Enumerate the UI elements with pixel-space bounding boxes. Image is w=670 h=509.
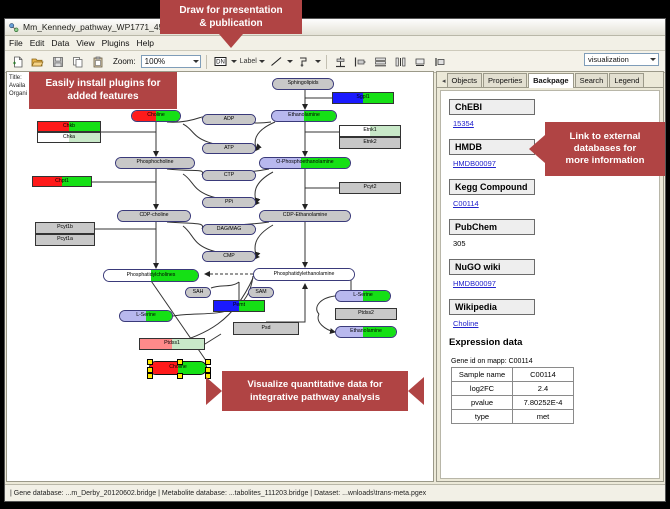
node-label: Pemt xyxy=(233,303,245,308)
metabolite-node-sphingolipids[interactable]: Sphingolipids xyxy=(272,78,334,90)
metabolite-node-sam-1[interactable]: SAM xyxy=(248,287,274,298)
node-label: Chkb xyxy=(63,124,75,129)
expr-val-log2fc: 2.4 xyxy=(513,382,574,396)
pathvisio-window: Mm_Kennedy_pathway_WP1771_45176.gpml Fil… xyxy=(4,18,666,502)
tab-legend[interactable]: Legend xyxy=(609,73,644,87)
distribute-icon[interactable] xyxy=(352,53,369,70)
node-label: Phosphatidylcholines xyxy=(127,273,176,278)
metabolite-node-phosphatidylcholines[interactable]: Phosphatidylcholines xyxy=(103,269,199,282)
node-label: Psd xyxy=(262,326,271,331)
db-header-nugo-wiki: NuGO wiki xyxy=(449,259,535,275)
pathvisio-app-icon xyxy=(8,22,19,33)
db-header-kegg-compound: Kegg Compound xyxy=(449,179,535,195)
copy-icon[interactable] xyxy=(69,53,86,70)
status-bar: | Gene database: ...m_Derby_20120602.bri… xyxy=(5,484,665,501)
new-file-icon[interactable] xyxy=(9,53,26,70)
gene-node-pcyt1b[interactable]: Pcyt1b xyxy=(35,222,95,234)
menu-item-plugins[interactable]: Plugins xyxy=(102,38,130,48)
gene-node-psd[interactable]: Psd xyxy=(233,322,299,335)
chevron-down-icon xyxy=(193,60,199,63)
visualization-select[interactable]: visualization xyxy=(584,53,659,66)
node-label: Phosphocholine xyxy=(137,160,174,165)
line-tool-group[interactable] xyxy=(268,53,293,70)
node-label: CMP xyxy=(223,254,235,259)
stack-icon[interactable] xyxy=(372,53,389,70)
side-panel-tabs: ◂ Objects Properties Backpage Search Leg… xyxy=(437,72,663,88)
node-label: CDP-choline xyxy=(139,213,168,218)
menu-item-data[interactable]: Data xyxy=(51,38,69,48)
metabolite-node-ppi[interactable]: PPi xyxy=(202,197,256,208)
gene-node-chpt1[interactable]: Chpt1 xyxy=(32,176,92,187)
chevron-down-icon[interactable] xyxy=(287,60,293,63)
order-icon[interactable] xyxy=(432,53,449,70)
metabolite-node-phosphocholine[interactable]: Phosphocholine xyxy=(115,157,195,169)
callout-plugins-line2: added features xyxy=(67,90,138,103)
metabolite-node-atp[interactable]: ATP xyxy=(202,143,256,154)
metabolite-node-ethanolamine-right[interactable]: Ethanolamine xyxy=(335,326,397,338)
tab-search[interactable]: Search xyxy=(575,73,609,87)
callout-draw-arrow xyxy=(219,34,243,48)
node-label: Etnk1 xyxy=(363,128,376,133)
node-label: Phosphatidylethanolamine xyxy=(274,272,335,277)
selection-handle[interactable] xyxy=(205,359,211,365)
metabolite-node-ethanolamine-top[interactable]: Ethanolamine xyxy=(271,110,337,122)
expr-val-sample-name: C00114 xyxy=(513,368,574,382)
node-label: Pcyt1b xyxy=(57,225,73,230)
node-label: ATP xyxy=(224,146,234,151)
node-label: Chpt1 xyxy=(55,179,69,184)
node-label: Pcyt2 xyxy=(364,185,377,190)
menu-item-help[interactable]: Help xyxy=(137,38,154,48)
gene-node-pcyt2[interactable]: Pcyt2 xyxy=(339,182,401,194)
group-icon[interactable] xyxy=(412,53,429,70)
node-label: Sphingolipids xyxy=(288,81,319,86)
db-link-nugo-wiki[interactable]: HMDB00097 xyxy=(453,279,651,288)
chevron-down-icon[interactable] xyxy=(259,60,265,63)
node-label: Ptdss2 xyxy=(358,311,374,316)
zoom-combobox[interactable]: 100% xyxy=(141,55,201,68)
selection-handle[interactable] xyxy=(147,373,153,379)
svg-text:DN: DN xyxy=(216,60,225,66)
node-label: PPi xyxy=(225,200,233,205)
status-text: | Gene database: ...m_Derby_20120602.bri… xyxy=(5,490,426,497)
metabolite-node-phosphatidylethanolamine[interactable]: Phosphatidylethanolamine xyxy=(253,268,355,281)
db-header-pubchem: PubChem xyxy=(449,219,535,235)
table-row: pvalue 7.80252E-4 xyxy=(452,396,574,410)
selection-handle[interactable] xyxy=(177,373,183,379)
node-label: L-Serine xyxy=(353,293,373,298)
node-label: CDP-Ethanolamine xyxy=(283,213,327,218)
db-header-hmdb: HMDB xyxy=(449,139,535,155)
save-icon[interactable] xyxy=(49,53,66,70)
table-row: log2FC 2.4 xyxy=(452,382,574,396)
gene-id-on-mapp: Gene id on mapp: C00114 xyxy=(451,358,651,365)
node-label: O-Phosphoethanolamine xyxy=(276,160,333,165)
zoom-label: Zoom: xyxy=(113,57,136,66)
metabolite-node-choline-selected[interactable]: Choline xyxy=(149,361,207,375)
label-tool-group[interactable]: Label xyxy=(240,58,265,65)
metabolite-node-o-phosphoethanolamine[interactable]: O-Phosphoethanolamine xyxy=(259,157,351,169)
expr-key-pvalue: pvalue xyxy=(452,396,513,410)
callout-visualize-line2: integrative pathway analysis xyxy=(250,391,380,404)
selection-handle[interactable] xyxy=(177,359,183,365)
line-icon[interactable] xyxy=(268,53,285,70)
gene-node-etnk2[interactable]: Etnk2 xyxy=(339,137,401,149)
gene-node-pcyt1a[interactable]: Pcyt1a xyxy=(35,234,95,246)
expr-val-pvalue: 7.80252E-4 xyxy=(513,396,574,410)
zoom-value: 100% xyxy=(145,57,165,66)
node-label: Chka xyxy=(63,135,75,140)
callout-visualize: Visualize quantitative data for integrat… xyxy=(222,371,408,411)
callout-visualize-arrow-right xyxy=(408,377,424,405)
open-folder-icon[interactable] xyxy=(29,53,46,70)
screenshot-root: Mm_Kennedy_pathway_WP1771_45176.gpml Fil… xyxy=(0,0,670,509)
tab-properties[interactable]: Properties xyxy=(483,73,527,87)
callout-external-line1: Link to external xyxy=(570,131,641,143)
metabolite-node-ctp[interactable]: CTP xyxy=(202,170,256,181)
callout-visualize-arrow-left xyxy=(206,377,222,405)
callout-external-line2: databases for xyxy=(574,143,636,155)
gene-node-chka[interactable]: Chka xyxy=(37,132,101,143)
callout-plugins: Easily install plugins for added feature… xyxy=(29,71,177,109)
node-label: Choline xyxy=(147,113,165,118)
selection-handle[interactable] xyxy=(147,359,153,365)
db-link-wikipedia[interactable]: Choline xyxy=(453,319,651,328)
spacing-icon[interactable] xyxy=(392,53,409,70)
node-label: Pcyt1a xyxy=(57,237,73,242)
metabolite-node-dagmag[interactable]: DAG/MAG xyxy=(202,224,256,235)
node-label: Ethanolamine xyxy=(288,113,320,118)
menu-bar: File Edit Data View Plugins Help xyxy=(5,36,665,51)
menu-item-view[interactable]: View xyxy=(76,38,94,48)
node-label: DAG/MAG xyxy=(217,227,242,232)
expr-key-type: type xyxy=(452,410,513,424)
expr-key-log2fc: log2FC xyxy=(452,382,513,396)
db-link-kegg-compound[interactable]: C00114 xyxy=(453,199,651,208)
metabolite-node-cmp[interactable]: CMP xyxy=(202,251,256,262)
toolbar-separator xyxy=(326,55,327,69)
node-label: L-Serine xyxy=(136,313,156,318)
node-label: Ethanolamine xyxy=(350,329,382,334)
menu-item-edit[interactable]: Edit xyxy=(30,38,45,48)
node-label: Etnk2 xyxy=(363,140,376,145)
chevron-down-icon[interactable] xyxy=(315,60,321,63)
gene-node-ptdss1[interactable]: Ptdss1 xyxy=(139,338,205,350)
callout-external-links: Link to external databases for more info… xyxy=(545,122,665,176)
callout-draw: Draw for presentation & publication xyxy=(160,0,302,34)
gene-node-etnk1[interactable]: Etnk1 xyxy=(339,125,401,137)
gene-node-ptdss2[interactable]: Ptdss2 xyxy=(335,308,397,320)
label-tool-label: Label xyxy=(240,58,257,65)
node-label: ADP xyxy=(224,117,235,122)
tab-objects[interactable]: Objects xyxy=(447,73,482,87)
metabolite-node-sah-1[interactable]: SAH xyxy=(185,287,211,298)
table-row: type met xyxy=(452,410,574,424)
gene-node-pemt[interactable]: Pemt xyxy=(213,300,265,312)
chevron-down-icon[interactable] xyxy=(231,60,237,63)
anchor-line-icon[interactable] xyxy=(296,53,313,70)
data-node-icon[interactable]: DN xyxy=(212,53,229,70)
gene-node-sgpl1[interactable]: Sgpl1 xyxy=(332,92,394,104)
node-label: Choline xyxy=(169,365,187,370)
metabolite-node-cdp-ethanolamine[interactable]: CDP-Ethanolamine xyxy=(259,210,351,222)
paste-icon[interactable] xyxy=(89,53,106,70)
node-label: Ptdss1 xyxy=(164,341,180,346)
gene-node-chkb[interactable]: Chkb xyxy=(37,121,101,132)
align-icon[interactable] xyxy=(332,53,349,70)
node-label: Sgpl1 xyxy=(356,95,369,100)
metabolite-node-cdp-choline[interactable]: CDP-choline xyxy=(117,210,191,222)
pathway-canvas[interactable]: Title: Availa Organi xyxy=(6,71,434,482)
datanode-tool-group[interactable]: DN xyxy=(212,53,237,70)
chevron-down-icon xyxy=(650,58,656,61)
db-header-chebi: ChEBI xyxy=(449,99,535,115)
window-titlebar: Mm_Kennedy_pathway_WP1771_45176.gpml xyxy=(5,19,665,36)
node-label: SAM xyxy=(255,290,266,295)
metabolite-node-adp[interactable]: ADP xyxy=(202,114,256,125)
expr-key-sample-name: Sample name xyxy=(452,368,513,382)
callout-draw-line1: Draw for presentation xyxy=(179,4,282,17)
expression-table: Sample name C00114 log2FC 2.4 pvalue 7.8… xyxy=(451,367,574,424)
anchor-line-tool-group[interactable] xyxy=(296,53,321,70)
visualization-value: visualization xyxy=(588,55,629,64)
metabolite-node-l-serine-right[interactable]: L-Serine xyxy=(335,290,391,302)
expression-data-heading: Expression data xyxy=(449,337,651,348)
db-header-wikipedia: Wikipedia xyxy=(449,299,535,315)
db-value-pubchem: 305 xyxy=(453,239,651,248)
node-label: SAH xyxy=(193,290,204,295)
callout-external-arrow xyxy=(529,135,545,163)
toolbar-separator xyxy=(206,55,207,69)
node-label: CTP xyxy=(224,173,234,178)
metabolite-node-l-serine-left[interactable]: L-Serine xyxy=(119,310,173,322)
callout-plugins-line1: Easily install plugins for xyxy=(45,77,160,90)
callout-visualize-line1: Visualize quantitative data for xyxy=(247,378,382,391)
metabolite-node-choline-top[interactable]: Choline xyxy=(131,110,181,122)
menu-item-file[interactable]: File xyxy=(9,38,23,48)
tab-backpage[interactable]: Backpage xyxy=(528,73,573,88)
table-row: Sample name C00114 xyxy=(452,368,574,382)
expr-val-type: met xyxy=(513,410,574,424)
callout-draw-line2: & publication xyxy=(199,17,262,30)
callout-external-line3: more information xyxy=(566,155,645,167)
